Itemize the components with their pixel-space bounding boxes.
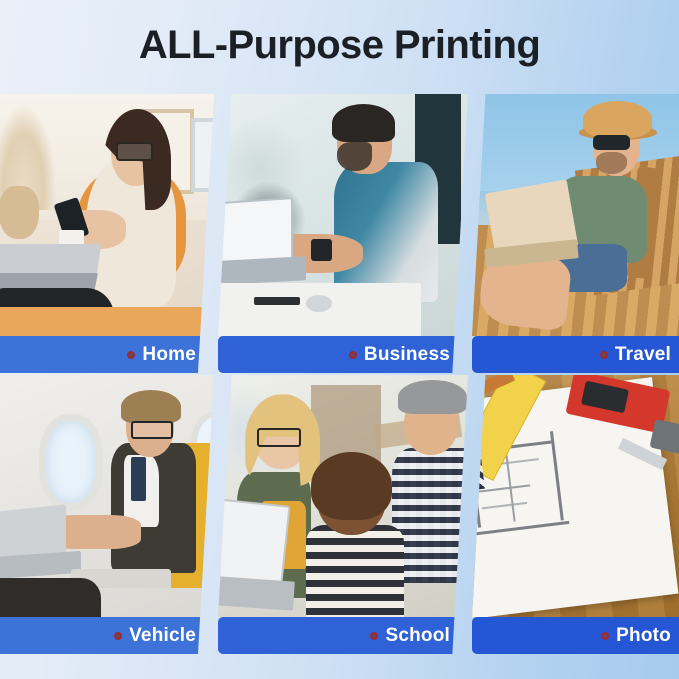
all-purpose-printing-poster: ALL-Purpose Printing bbox=[0, 0, 679, 679]
category-panel-vehicle[interactable]: Vehicle bbox=[0, 375, 214, 654]
category-label-bar-home[interactable]: Home bbox=[0, 336, 210, 373]
photo-school bbox=[216, 375, 468, 617]
circle-bullet-icon bbox=[370, 632, 378, 640]
category-label-travel: Travel bbox=[615, 345, 671, 364]
circle-bullet-icon bbox=[349, 351, 357, 359]
category-label-bar-photo[interactable]: Photo bbox=[472, 617, 679, 654]
circle-bullet-icon bbox=[600, 351, 608, 359]
photo-photo bbox=[470, 375, 679, 617]
category-panel-travel[interactable]: Travel bbox=[470, 94, 679, 373]
poster-header: ALL-Purpose Printing bbox=[0, 0, 679, 94]
category-label-bar-travel[interactable]: Travel bbox=[472, 336, 679, 373]
category-label-home: Home bbox=[142, 345, 196, 364]
category-panel-business[interactable]: Business bbox=[216, 94, 468, 373]
category-label-bar-vehicle[interactable]: Vehicle bbox=[0, 617, 210, 654]
category-panel-photo[interactable]: Photo bbox=[470, 375, 679, 654]
category-grid: Home bbox=[0, 94, 679, 679]
category-row-top: Home bbox=[0, 94, 679, 373]
photo-business bbox=[216, 94, 468, 336]
category-label-vehicle: Vehicle bbox=[129, 626, 196, 645]
category-label-photo: Photo bbox=[616, 626, 671, 645]
category-label-bar-business[interactable]: Business bbox=[218, 336, 464, 373]
circle-bullet-icon bbox=[127, 351, 135, 359]
page-title: ALL-Purpose Printing bbox=[139, 25, 540, 69]
category-label-school: School bbox=[385, 626, 450, 645]
photo-vehicle bbox=[0, 375, 214, 617]
circle-bullet-icon bbox=[601, 632, 609, 640]
circle-bullet-icon bbox=[114, 632, 122, 640]
category-label-bar-school[interactable]: School bbox=[218, 617, 464, 654]
category-label-business: Business bbox=[364, 345, 450, 364]
photo-home bbox=[0, 94, 214, 336]
category-panel-school[interactable]: School bbox=[216, 375, 468, 654]
category-row-bottom: Vehicle bbox=[0, 375, 679, 654]
category-panel-home[interactable]: Home bbox=[0, 94, 214, 373]
photo-travel bbox=[470, 94, 679, 336]
